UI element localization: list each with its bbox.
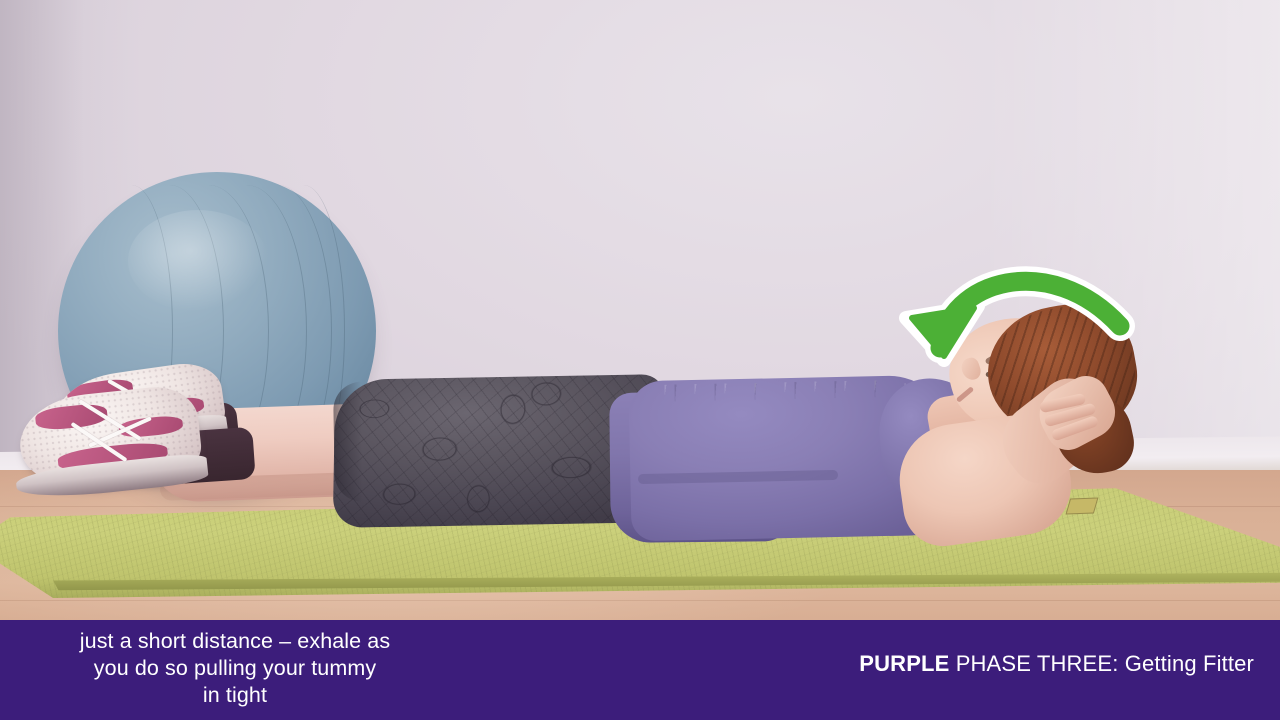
subtitle-line: in tight (0, 682, 470, 709)
subtitle-text: just a short distance – exhale as you do… (0, 628, 470, 709)
caption-bar: just a short distance – exhale as you do… (0, 620, 1280, 720)
program-phase-label: PURPLE PHASE THREE: Getting Fitter (859, 651, 1254, 677)
leggings-hem (333, 382, 363, 502)
subtitle-line: just a short distance – exhale as (0, 628, 470, 655)
video-frame: just a short distance – exhale as you do… (0, 0, 1280, 720)
program-phase: PHASE THREE: Getting Fitter (949, 651, 1254, 676)
subtitle-line: you do so pulling your tummy (0, 655, 470, 682)
curved-arrow-icon (900, 248, 1150, 368)
program-brand: PURPLE (859, 651, 949, 676)
